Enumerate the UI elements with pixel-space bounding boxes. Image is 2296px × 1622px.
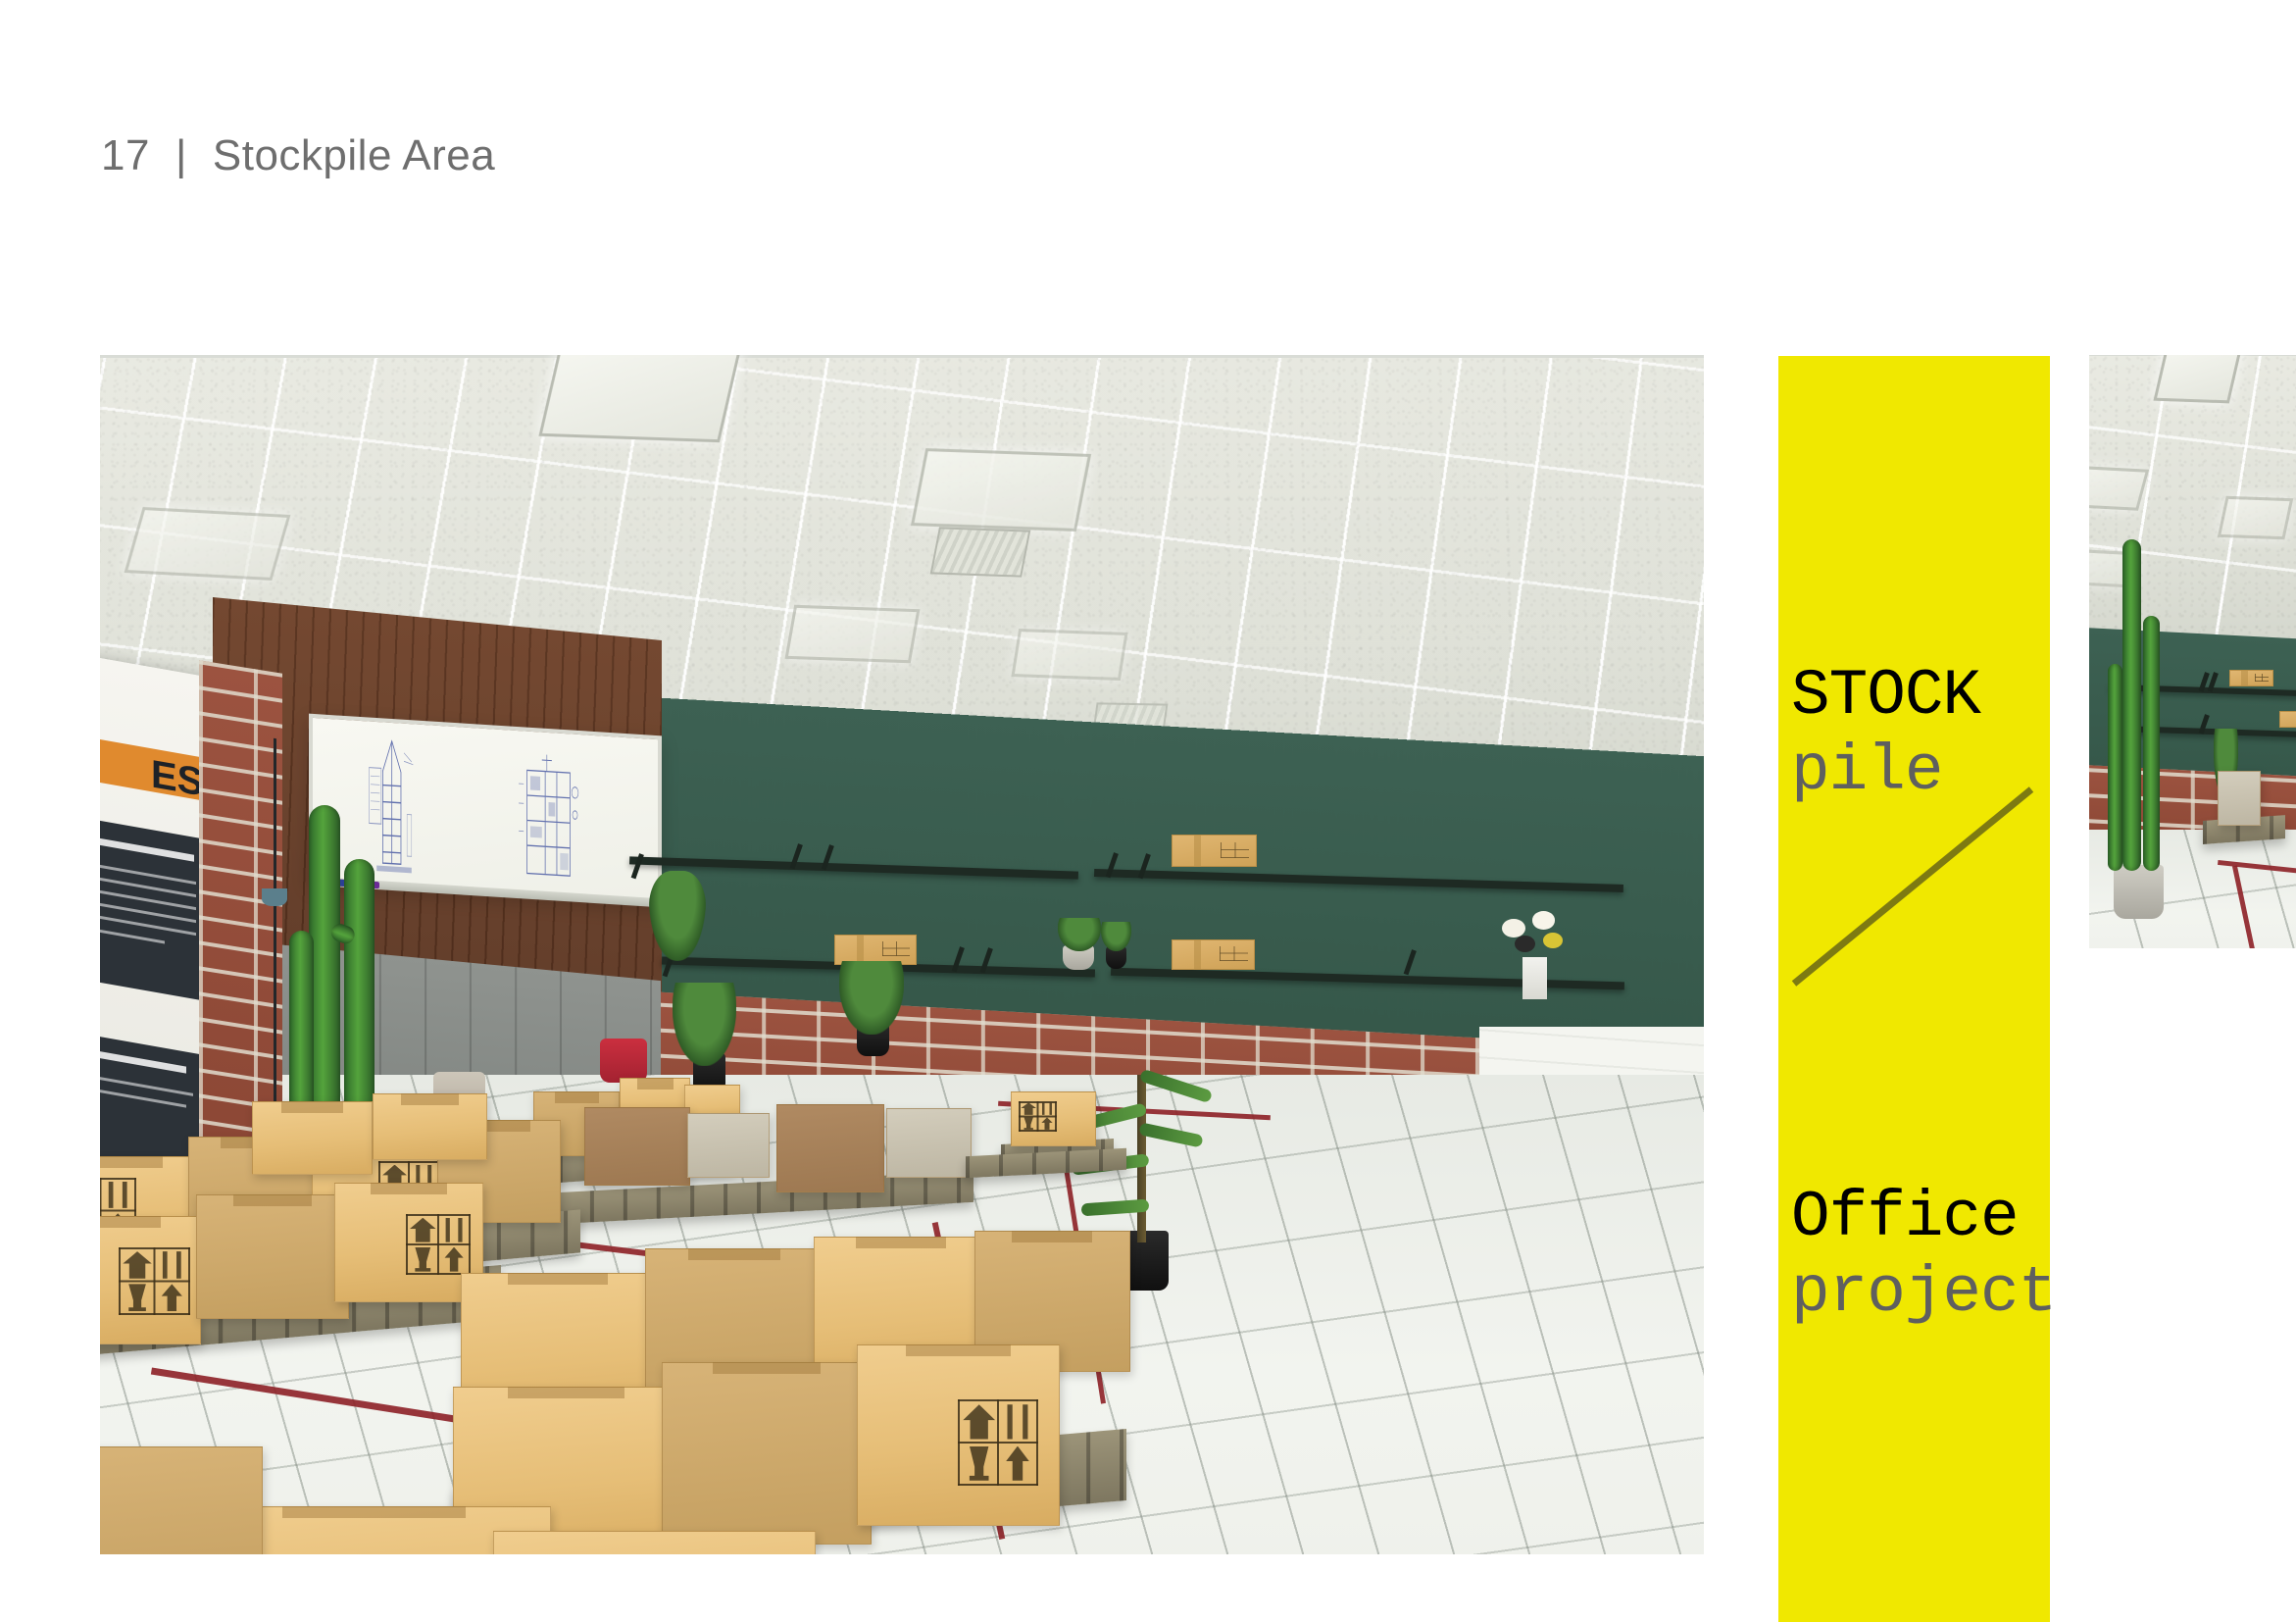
cactus xyxy=(2143,616,2160,871)
shelf-carton xyxy=(2229,670,2272,687)
yellow-accent-panel xyxy=(1778,356,2050,1622)
carton xyxy=(687,1113,770,1178)
ceiling-light xyxy=(2153,355,2242,404)
label-stockpile-muted: pile xyxy=(1791,735,1980,810)
ceiling-light xyxy=(911,448,1091,532)
label-stockpile-strong: STOCK xyxy=(1791,659,1980,735)
carton xyxy=(493,1531,816,1554)
carton xyxy=(584,1107,690,1186)
carton xyxy=(100,1446,263,1554)
cactus-pot xyxy=(2114,865,2164,918)
whiteboard-sketch-floorplan xyxy=(509,746,591,890)
label-office-strong: Office xyxy=(1791,1181,2056,1256)
small-plant xyxy=(1101,922,1131,950)
ceiling-light xyxy=(785,605,921,663)
carton xyxy=(2218,771,2261,826)
ceiling-light xyxy=(124,507,290,581)
poster-development xyxy=(100,818,206,1001)
flower-vase xyxy=(1522,957,1547,999)
main-photo-scene: ES xyxy=(100,355,1704,1554)
main-photo: ES xyxy=(100,355,1704,1554)
carton xyxy=(100,1216,201,1343)
carton xyxy=(776,1104,884,1192)
cactus xyxy=(2122,539,2141,872)
carton xyxy=(1011,1091,1096,1146)
cactus xyxy=(2108,664,2122,872)
carton xyxy=(252,1101,373,1175)
carton xyxy=(857,1344,1060,1526)
potted-plant xyxy=(839,961,903,1036)
label-stockpile: STOCK pile xyxy=(1791,659,1980,809)
whiteboard-sketch-tower xyxy=(354,733,429,877)
ceiling-light xyxy=(2218,496,2294,540)
carton xyxy=(196,1194,349,1319)
ceiling-light xyxy=(539,355,742,442)
shelf-carton xyxy=(1172,939,1255,970)
label-office-project: Office project xyxy=(1791,1181,2056,1331)
ceiling-light xyxy=(1011,629,1127,681)
poster-banner-text: ES xyxy=(151,752,203,805)
slide-title-text: Stockpile Area xyxy=(213,131,495,180)
flower xyxy=(1532,911,1555,929)
pendant-lamp xyxy=(262,888,287,906)
hanging-plant xyxy=(649,871,707,961)
shelf-carton xyxy=(2279,711,2296,728)
thumbnail-scene xyxy=(2089,355,2296,948)
thumbnail-photo xyxy=(2089,355,2296,948)
carton xyxy=(886,1108,972,1177)
title-separator: | xyxy=(175,131,187,180)
small-plant xyxy=(1058,918,1101,951)
carton xyxy=(373,1093,487,1160)
slide-number: 17 xyxy=(101,131,150,180)
cactus xyxy=(309,805,341,1129)
shelf-carton xyxy=(1172,835,1257,867)
carton xyxy=(662,1362,873,1544)
label-office-muted: project xyxy=(1791,1256,2056,1332)
cactus xyxy=(344,859,374,1135)
flower xyxy=(1515,936,1535,952)
page-title: 17 | Stockpile Area xyxy=(101,131,495,180)
ceiling-vent xyxy=(929,528,1030,578)
red-bin xyxy=(600,1039,646,1083)
potted-plant xyxy=(673,983,736,1067)
